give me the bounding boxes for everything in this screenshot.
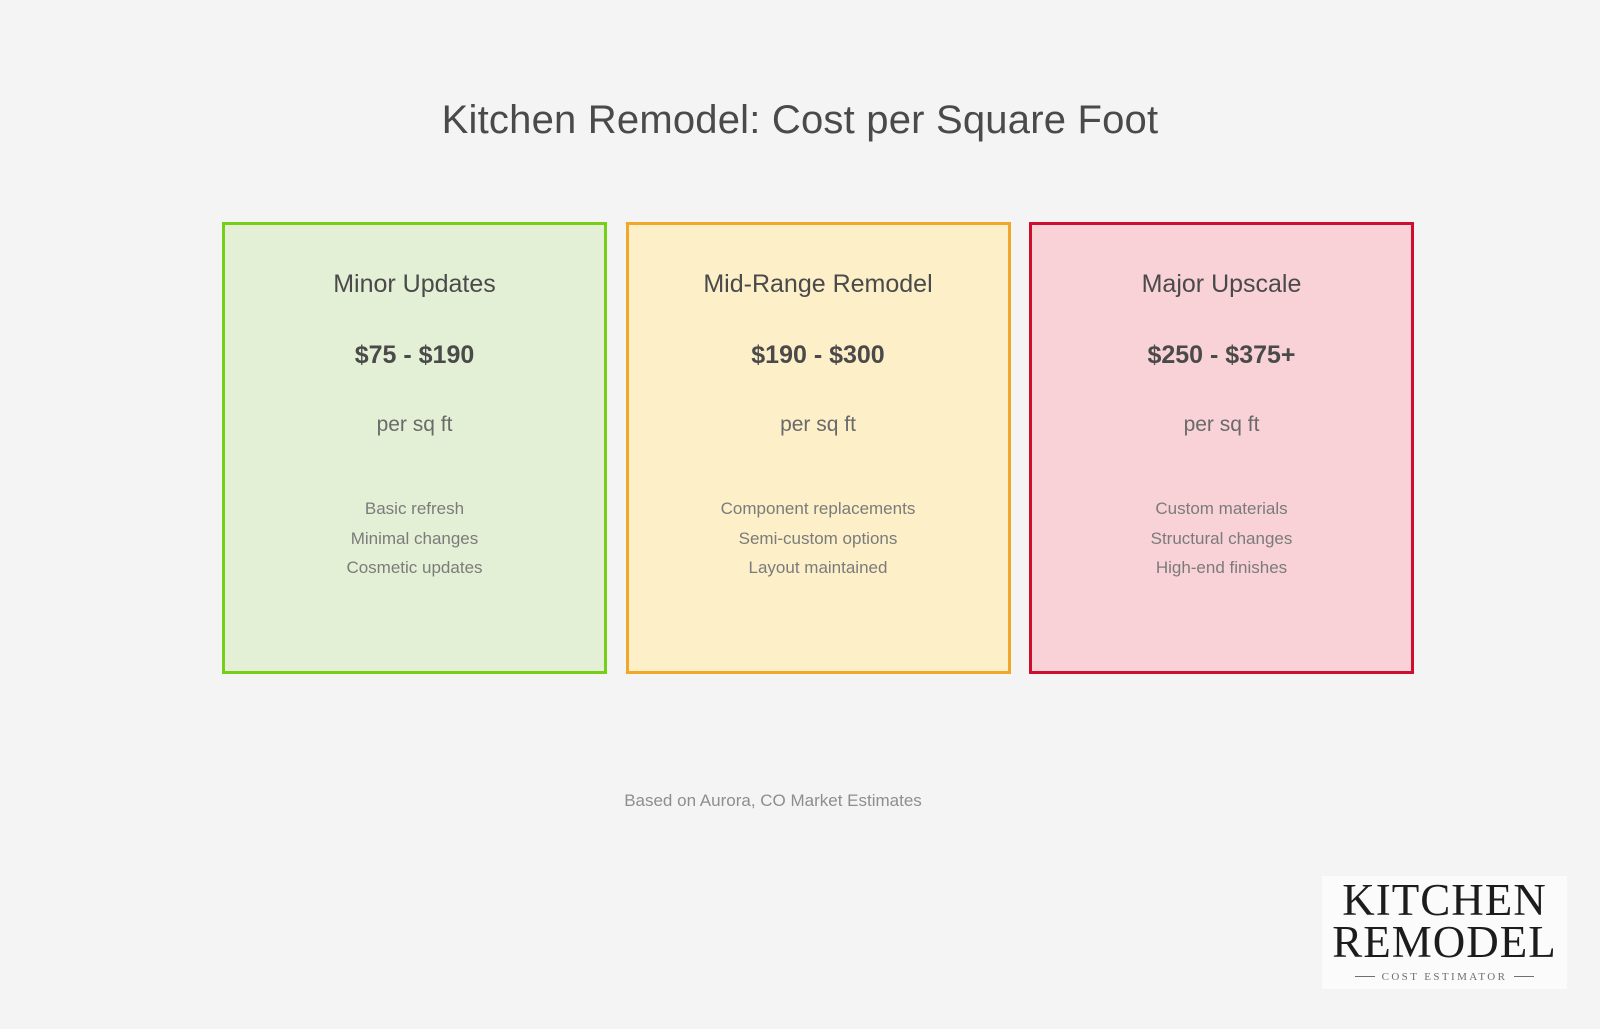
tier-feature-item: Structural changes: [1151, 529, 1293, 549]
tier-unit-label: per sq ft: [1184, 412, 1260, 437]
tier-name: Major Upscale: [1142, 269, 1302, 299]
cost-per-square-foot-infographic: Kitchen Remodel: Cost per Square Foot Mi…: [0, 0, 1600, 1029]
tier-feature-item: Minimal changes: [351, 529, 479, 549]
tier-unit-label: per sq ft: [377, 412, 453, 437]
tier-card-row: Minor Updates $75 - $190 per sq ft Basic…: [222, 222, 1414, 674]
brand-logo-tagline-row: COST ESTIMATOR: [1322, 971, 1567, 983]
tier-price-range: $190 - $300: [751, 340, 884, 370]
tagline-rule-right-icon: [1514, 976, 1534, 977]
tagline-rule-left-icon: [1355, 976, 1375, 977]
tier-name: Mid-Range Remodel: [703, 269, 932, 299]
tier-feature-item: Component replacements: [721, 499, 916, 519]
brand-logo-line-one: KITCHEN: [1342, 880, 1546, 922]
page-title: Kitchen Remodel: Cost per Square Foot: [0, 98, 1600, 143]
tier-feature-item: Basic refresh: [365, 499, 464, 519]
tier-unit-label: per sq ft: [780, 412, 856, 437]
tier-feature-item: Custom materials: [1155, 499, 1287, 519]
tier-price-range: $75 - $190: [355, 340, 475, 370]
tier-feature-item: Cosmetic updates: [346, 558, 482, 578]
brand-logo: KITCHEN REMODEL COST ESTIMATOR: [1322, 876, 1567, 989]
tier-feature-item: Semi-custom options: [739, 529, 898, 549]
tier-feature-list: Custom materials Structural changes High…: [1151, 499, 1293, 578]
tier-card-major-upscale[interactable]: Major Upscale $250 - $375+ per sq ft Cus…: [1029, 222, 1414, 674]
tier-card-minor-updates[interactable]: Minor Updates $75 - $190 per sq ft Basic…: [222, 222, 607, 674]
tier-name: Minor Updates: [333, 269, 496, 299]
tier-feature-item: Layout maintained: [749, 558, 888, 578]
brand-logo-line-two: REMODEL: [1332, 922, 1557, 964]
tier-feature-item: High-end finishes: [1156, 558, 1287, 578]
tier-card-mid-range-remodel[interactable]: Mid-Range Remodel $190 - $300 per sq ft …: [626, 222, 1011, 674]
brand-logo-tagline: COST ESTIMATOR: [1382, 971, 1508, 983]
tier-price-range: $250 - $375+: [1147, 340, 1295, 370]
tier-feature-list: Component replacements Semi-custom optio…: [721, 499, 916, 578]
source-note: Based on Aurora, CO Market Estimates: [0, 791, 1546, 811]
tier-feature-list: Basic refresh Minimal changes Cosmetic u…: [346, 499, 482, 578]
